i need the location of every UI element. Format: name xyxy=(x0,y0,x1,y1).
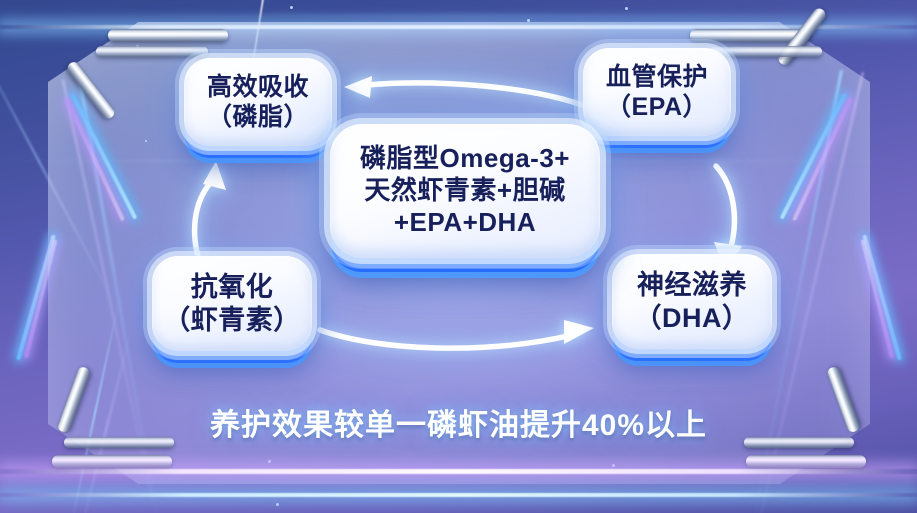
node-subtitle: （DHA） xyxy=(635,302,750,335)
node-card-neuro-nourishment[interactable]: 神经滋养 （DHA） xyxy=(612,254,772,349)
caption-text: 养护效果较单一磷虾油提升40%以上 xyxy=(0,400,917,444)
sparkle-dot xyxy=(527,19,530,22)
node-title: 神经滋养 xyxy=(635,269,750,302)
node-card-vascular-protection[interactable]: 血管保护 （EPA） xyxy=(583,48,731,136)
node-title: 抗氧化 xyxy=(163,271,301,304)
node-subtitle: （磷脂） xyxy=(207,102,309,133)
node-card-antioxidant[interactable]: 抗氧化 （虾青素） xyxy=(152,256,312,351)
horizontal-glow-line xyxy=(0,493,917,497)
node-title: 血管保护 xyxy=(606,62,708,93)
center-card-formula[interactable]: 磷脂型Omega-3+ 天然虾青素+胆碱 +EPA+DHA xyxy=(330,124,600,258)
formula-line-3: +EPA+DHA xyxy=(360,207,570,239)
infographic-stage: 高效吸收 （磷脂） 血管保护 （EPA） 抗氧化 （虾青素） 神经滋养 （DHA… xyxy=(0,0,917,513)
node-title: 高效吸收 xyxy=(207,72,309,103)
node-card-high-absorption[interactable]: 高效吸收 （磷脂） xyxy=(184,58,332,146)
node-subtitle: （EPA） xyxy=(606,92,708,123)
horizontal-glow-line xyxy=(0,15,917,17)
node-subtitle: （虾青素） xyxy=(163,304,301,337)
sparkle-dot xyxy=(625,7,628,10)
sparkle-dot xyxy=(290,6,293,9)
formula-line-1: 磷脂型Omega-3+ xyxy=(360,143,570,175)
sparkle-dot xyxy=(276,503,279,506)
formula-line-2: 天然虾青素+胆碱 xyxy=(360,175,570,207)
